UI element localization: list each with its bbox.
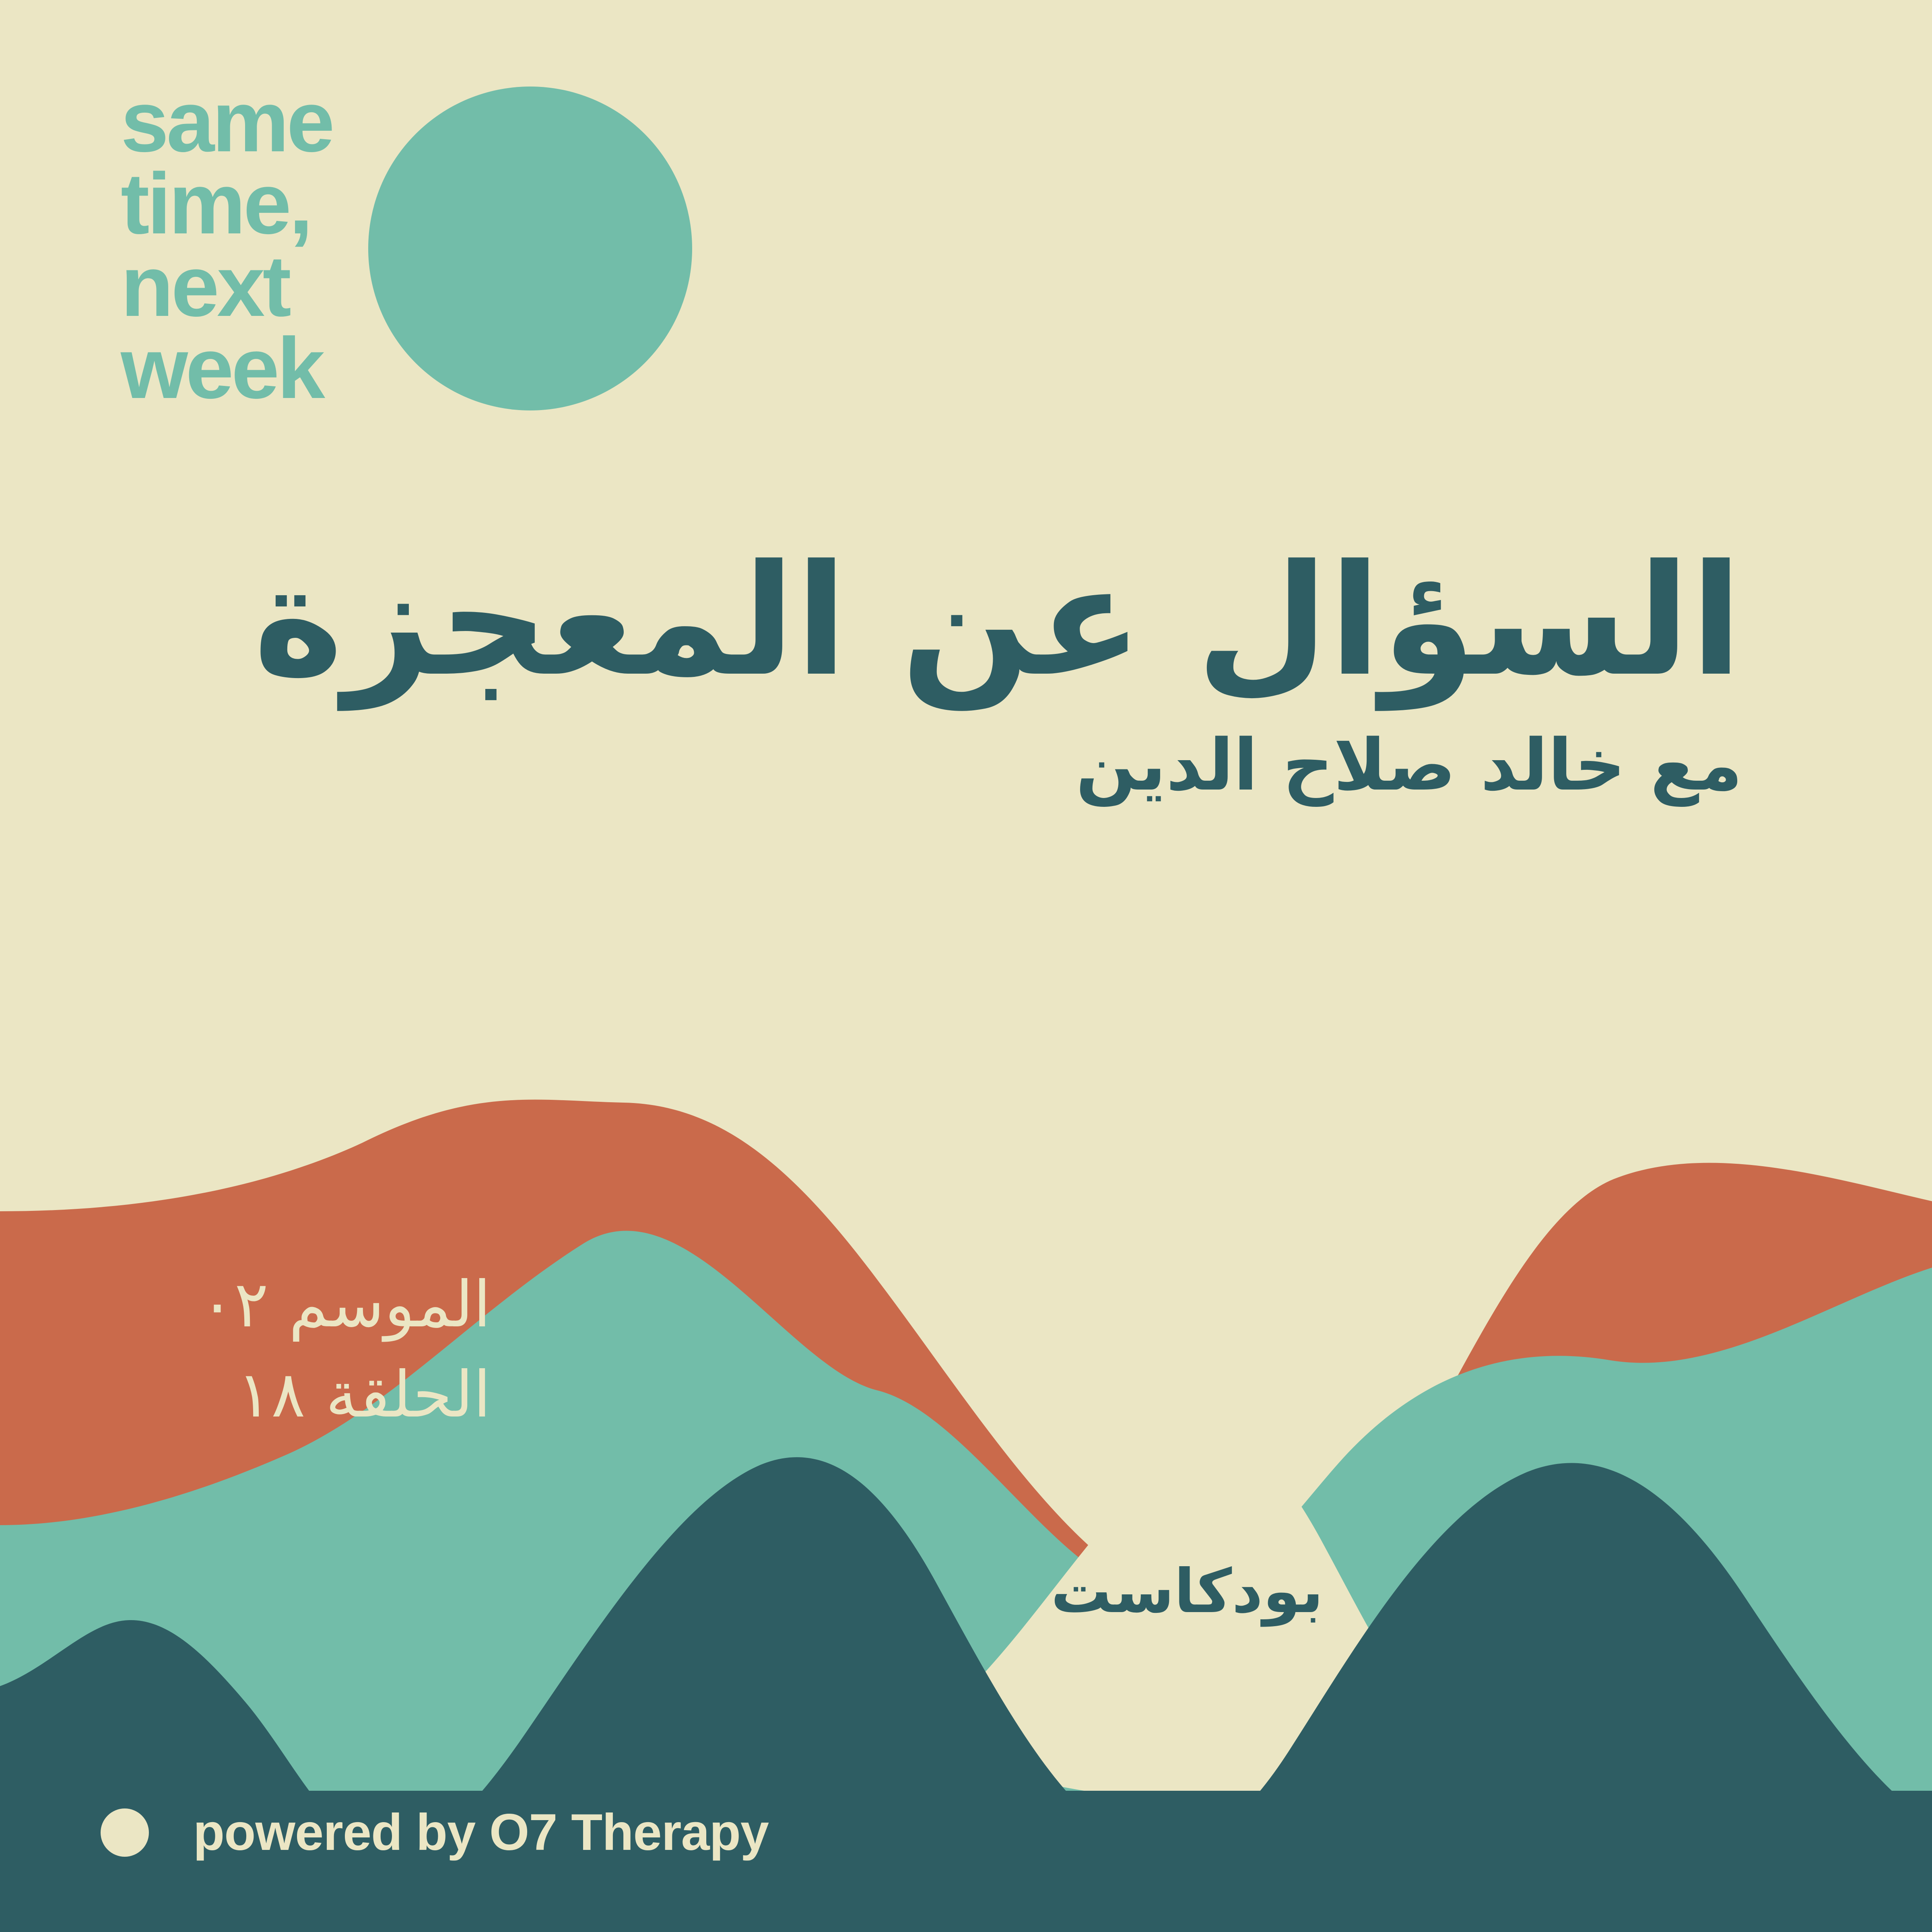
podcast-cover-artwork: same time, next week السؤال عن المعجزة م… — [0, 0, 1932, 1932]
season-label: الموسم ٠٢ — [68, 1260, 491, 1350]
podcast-format-label: بودكاست — [1006, 1561, 1368, 1622]
filled-circle-icon — [101, 1808, 149, 1857]
episode-title-block: السؤال عن المعجزة مع خالد صلاح الدين — [193, 535, 1742, 808]
logo-wordmark: same time, next week — [121, 80, 332, 409]
logo-circle-icon — [368, 87, 692, 410]
episode-number-label: الحلقة ١٨ — [68, 1350, 491, 1440]
season-episode-block: الموسم ٠٢ الحلقة ١٨ — [68, 1260, 491, 1440]
footer-credit-bar: powered by O7 Therapy — [101, 1807, 769, 1858]
episode-guest-subtitle: مع خالد صلاح الدين — [193, 723, 1742, 808]
brand-logo[interactable]: same time, next week — [121, 80, 724, 427]
powered-by-label: powered by O7 Therapy — [193, 1807, 769, 1858]
episode-title: السؤال عن المعجزة — [193, 535, 1742, 707]
